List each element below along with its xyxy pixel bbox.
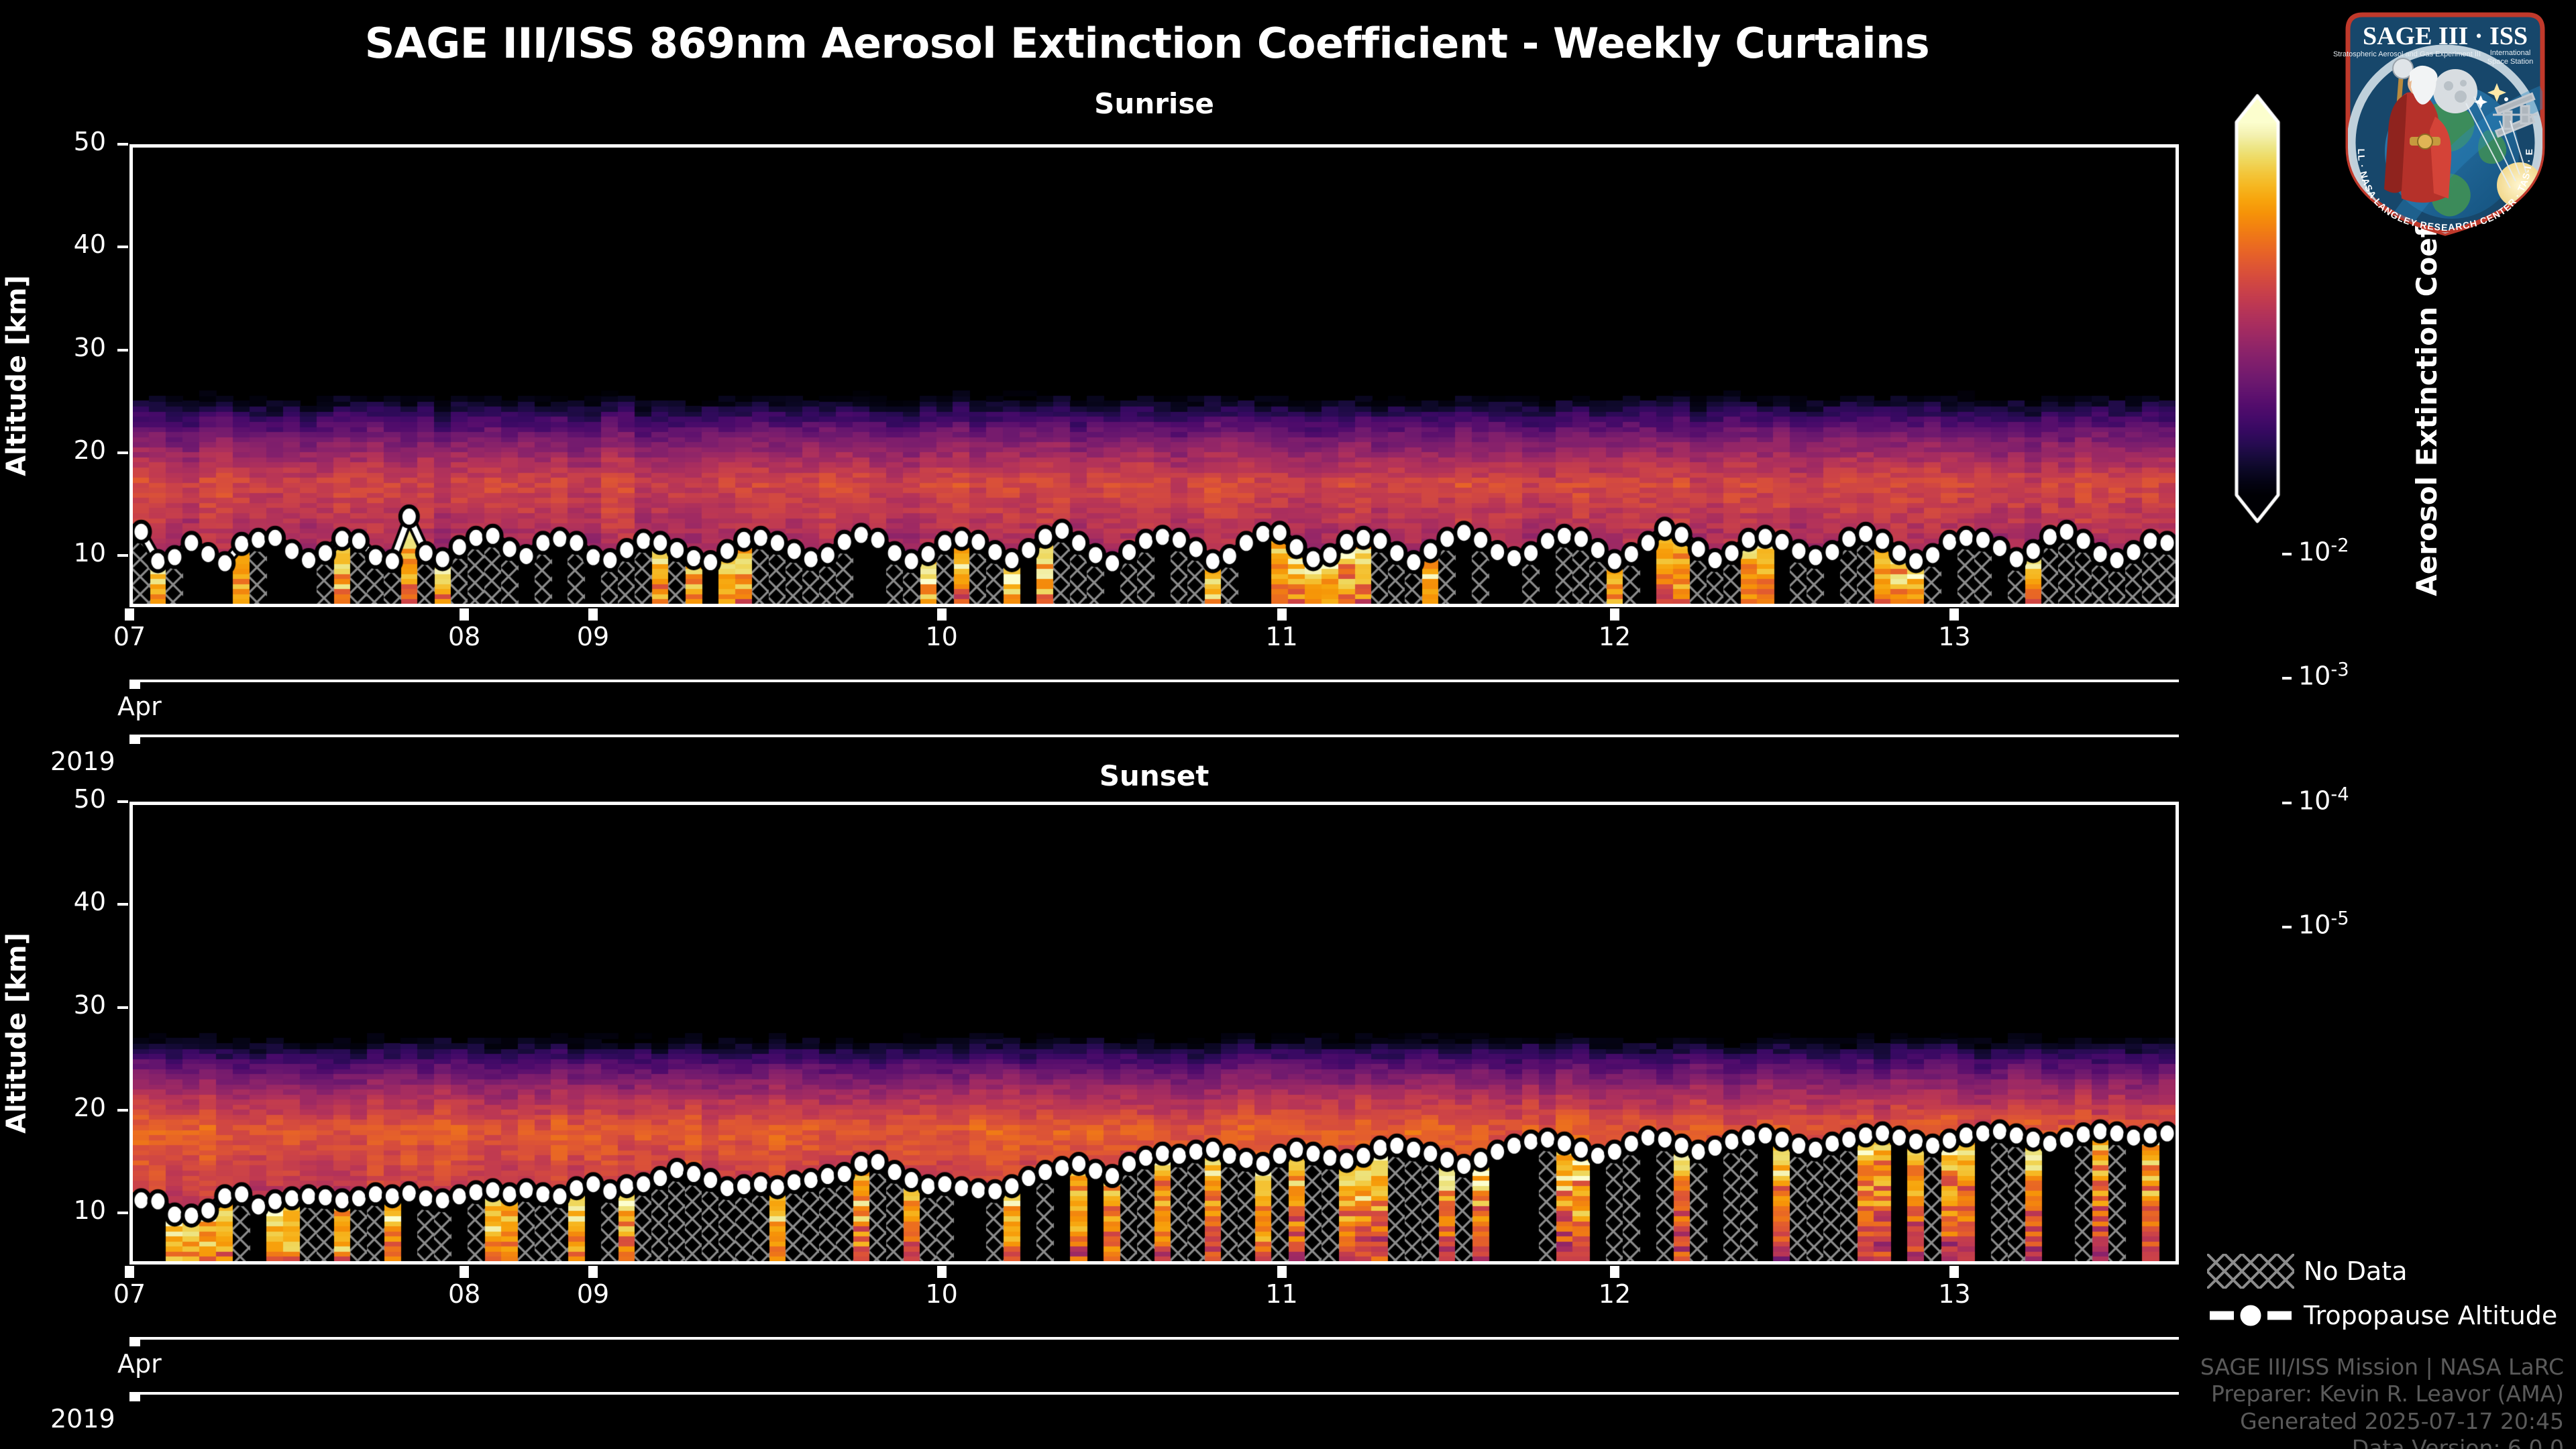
x-tick-label: 09 bbox=[553, 1279, 633, 1309]
y-tick-label: 30 bbox=[32, 990, 106, 1020]
sage-iii-iss-mission-patch-logo: SAGE III · ISS Stratospheric Aerosol and… bbox=[2328, 5, 2563, 241]
y-tick-mark bbox=[117, 554, 128, 557]
date-level-label-month: Apr bbox=[117, 692, 162, 721]
x-tick-mark bbox=[937, 1266, 947, 1278]
x-tick-mark bbox=[588, 1266, 598, 1278]
panel-title-sunrise: Sunrise bbox=[129, 87, 2179, 120]
panel-title-sunset: Sunset bbox=[129, 759, 2179, 792]
x-tick-mark bbox=[1610, 1266, 1619, 1278]
y-tick-label: 10 bbox=[32, 1195, 106, 1225]
x-tick-mark bbox=[937, 608, 947, 621]
x-tick-label: 10 bbox=[902, 622, 982, 651]
colorbar-tick-mark bbox=[2282, 677, 2292, 680]
footer-line-preparer: Preparer: Kevin R. Leavor (AMA) bbox=[2200, 1381, 2564, 1407]
patch-title: SAGE III · ISS bbox=[2363, 22, 2528, 50]
y-tick-mark bbox=[117, 246, 128, 248]
y-tick-label: 40 bbox=[32, 229, 106, 259]
legend-label-no-data: No Data bbox=[2304, 1256, 2408, 1286]
date-level-label-year: 2019 bbox=[50, 747, 115, 776]
x-tick-mark bbox=[1277, 608, 1287, 621]
x-tick-label: 11 bbox=[1242, 1279, 1322, 1309]
y-tick-label: 50 bbox=[32, 127, 106, 156]
date-level-line-year bbox=[129, 735, 2179, 737]
date-level-line-year bbox=[129, 1392, 2179, 1395]
date-level-label-month: Apr bbox=[117, 1349, 162, 1379]
legend: No Data Tropopause Altitude bbox=[2207, 1249, 2557, 1338]
date-level-tick-year bbox=[129, 1392, 140, 1401]
x-tick-label: 07 bbox=[89, 622, 170, 651]
x-tick-label: 08 bbox=[424, 1279, 504, 1309]
x-tick-label: 09 bbox=[553, 622, 633, 651]
colorbar-tick-label: 10-2 bbox=[2298, 535, 2349, 567]
x-tick-mark bbox=[1949, 608, 1959, 621]
y-tick-mark bbox=[117, 903, 128, 906]
x-tick-label: 12 bbox=[1574, 1279, 1655, 1309]
x-tick-label: 13 bbox=[1914, 1279, 1994, 1309]
y-tick-label: 30 bbox=[32, 333, 106, 362]
figure-title: SAGE III/ISS 869nm Aerosol Extinction Co… bbox=[0, 19, 2294, 68]
colorbar-tick-label: 10-3 bbox=[2298, 659, 2349, 691]
date-level-line-month bbox=[129, 680, 2179, 682]
date-level-tick-month bbox=[129, 680, 140, 689]
y-tick-mark bbox=[117, 143, 128, 146]
y-tick-mark bbox=[117, 1109, 128, 1112]
date-level-tick-year bbox=[129, 735, 140, 744]
colorbar[interactable]: 10-210-310-410-5 Aerosol Extinction Coef… bbox=[2234, 94, 2281, 526]
footer-line-version: Data Version: 6.0.0 bbox=[2200, 1435, 2564, 1449]
colorbar-tick-mark bbox=[2282, 553, 2292, 555]
heatmap-sunset bbox=[133, 805, 2176, 1261]
heatmap-sunrise bbox=[133, 148, 2176, 604]
colorbar-tick-mark bbox=[2282, 802, 2292, 804]
patch-subtitle-right-1: International bbox=[2490, 49, 2531, 57]
x-tick-label: 10 bbox=[902, 1279, 982, 1309]
x-tick-mark bbox=[125, 608, 134, 621]
legend-label-tropopause: Tropopause Altitude bbox=[2304, 1301, 2557, 1330]
x-tick-mark bbox=[125, 1266, 134, 1278]
x-tick-label: 11 bbox=[1242, 622, 1322, 651]
y-tick-mark bbox=[117, 451, 128, 454]
footer-line-generated: Generated 2025-07-17 20:45 bbox=[2200, 1408, 2564, 1435]
colorbar-gradient bbox=[2234, 94, 2281, 523]
y-axis-label-sunrise: Altitude [km] bbox=[1, 275, 32, 476]
footer-line-mission: SAGE III/ISS Mission | NASA LaRC bbox=[2200, 1354, 2564, 1381]
figure-canvas: SAGE III/ISS 869nm Aerosol Extinction Co… bbox=[0, 0, 2576, 1449]
date-level-label-year: 2019 bbox=[50, 1404, 115, 1434]
plot-area-sunset[interactable] bbox=[129, 802, 2179, 1265]
x-tick-mark bbox=[1949, 1266, 1959, 1278]
date-level-tick-month bbox=[129, 1337, 140, 1346]
y-axis-label-sunset: Altitude [km] bbox=[1, 932, 32, 1134]
y-tick-label: 10 bbox=[32, 538, 106, 568]
y-tick-label: 50 bbox=[32, 784, 106, 814]
y-tick-label: 20 bbox=[32, 435, 106, 465]
x-tick-label: 07 bbox=[89, 1279, 170, 1309]
patch-subtitle-right-2: Space Station bbox=[2487, 58, 2534, 66]
x-tick-mark bbox=[460, 608, 469, 621]
date-level-line-month bbox=[129, 1337, 2179, 1340]
legend-item-tropopause: Tropopause Altitude bbox=[2207, 1293, 2557, 1338]
x-tick-mark bbox=[1277, 1266, 1287, 1278]
x-tick-mark bbox=[460, 1266, 469, 1278]
y-tick-mark bbox=[117, 1212, 128, 1214]
x-tick-label: 08 bbox=[424, 622, 504, 651]
colorbar-tick-mark bbox=[2282, 926, 2292, 928]
plot-area-sunrise[interactable] bbox=[129, 144, 2179, 607]
colorbar-tick-label: 10-4 bbox=[2298, 784, 2349, 816]
x-tick-label: 13 bbox=[1914, 622, 1994, 651]
y-tick-mark bbox=[117, 1006, 128, 1009]
footer-credits: SAGE III/ISS Mission | NASA LaRC Prepare… bbox=[2200, 1354, 2564, 1449]
y-tick-label: 20 bbox=[32, 1093, 106, 1122]
y-tick-mark bbox=[117, 800, 128, 803]
x-tick-mark bbox=[1610, 608, 1619, 621]
legend-item-no-data: No Data bbox=[2207, 1249, 2557, 1293]
tropopause-marker-icon bbox=[2207, 1298, 2294, 1333]
patch-subtitle-left: Stratospheric Aerosol and Gas Experiment… bbox=[2333, 50, 2481, 58]
x-tick-label: 12 bbox=[1574, 622, 1655, 651]
x-tick-mark bbox=[588, 608, 598, 621]
y-tick-mark bbox=[117, 349, 128, 352]
hatch-swatch-icon bbox=[2207, 1254, 2294, 1289]
colorbar-tick-label: 10-5 bbox=[2298, 908, 2349, 940]
y-tick-label: 40 bbox=[32, 887, 106, 916]
